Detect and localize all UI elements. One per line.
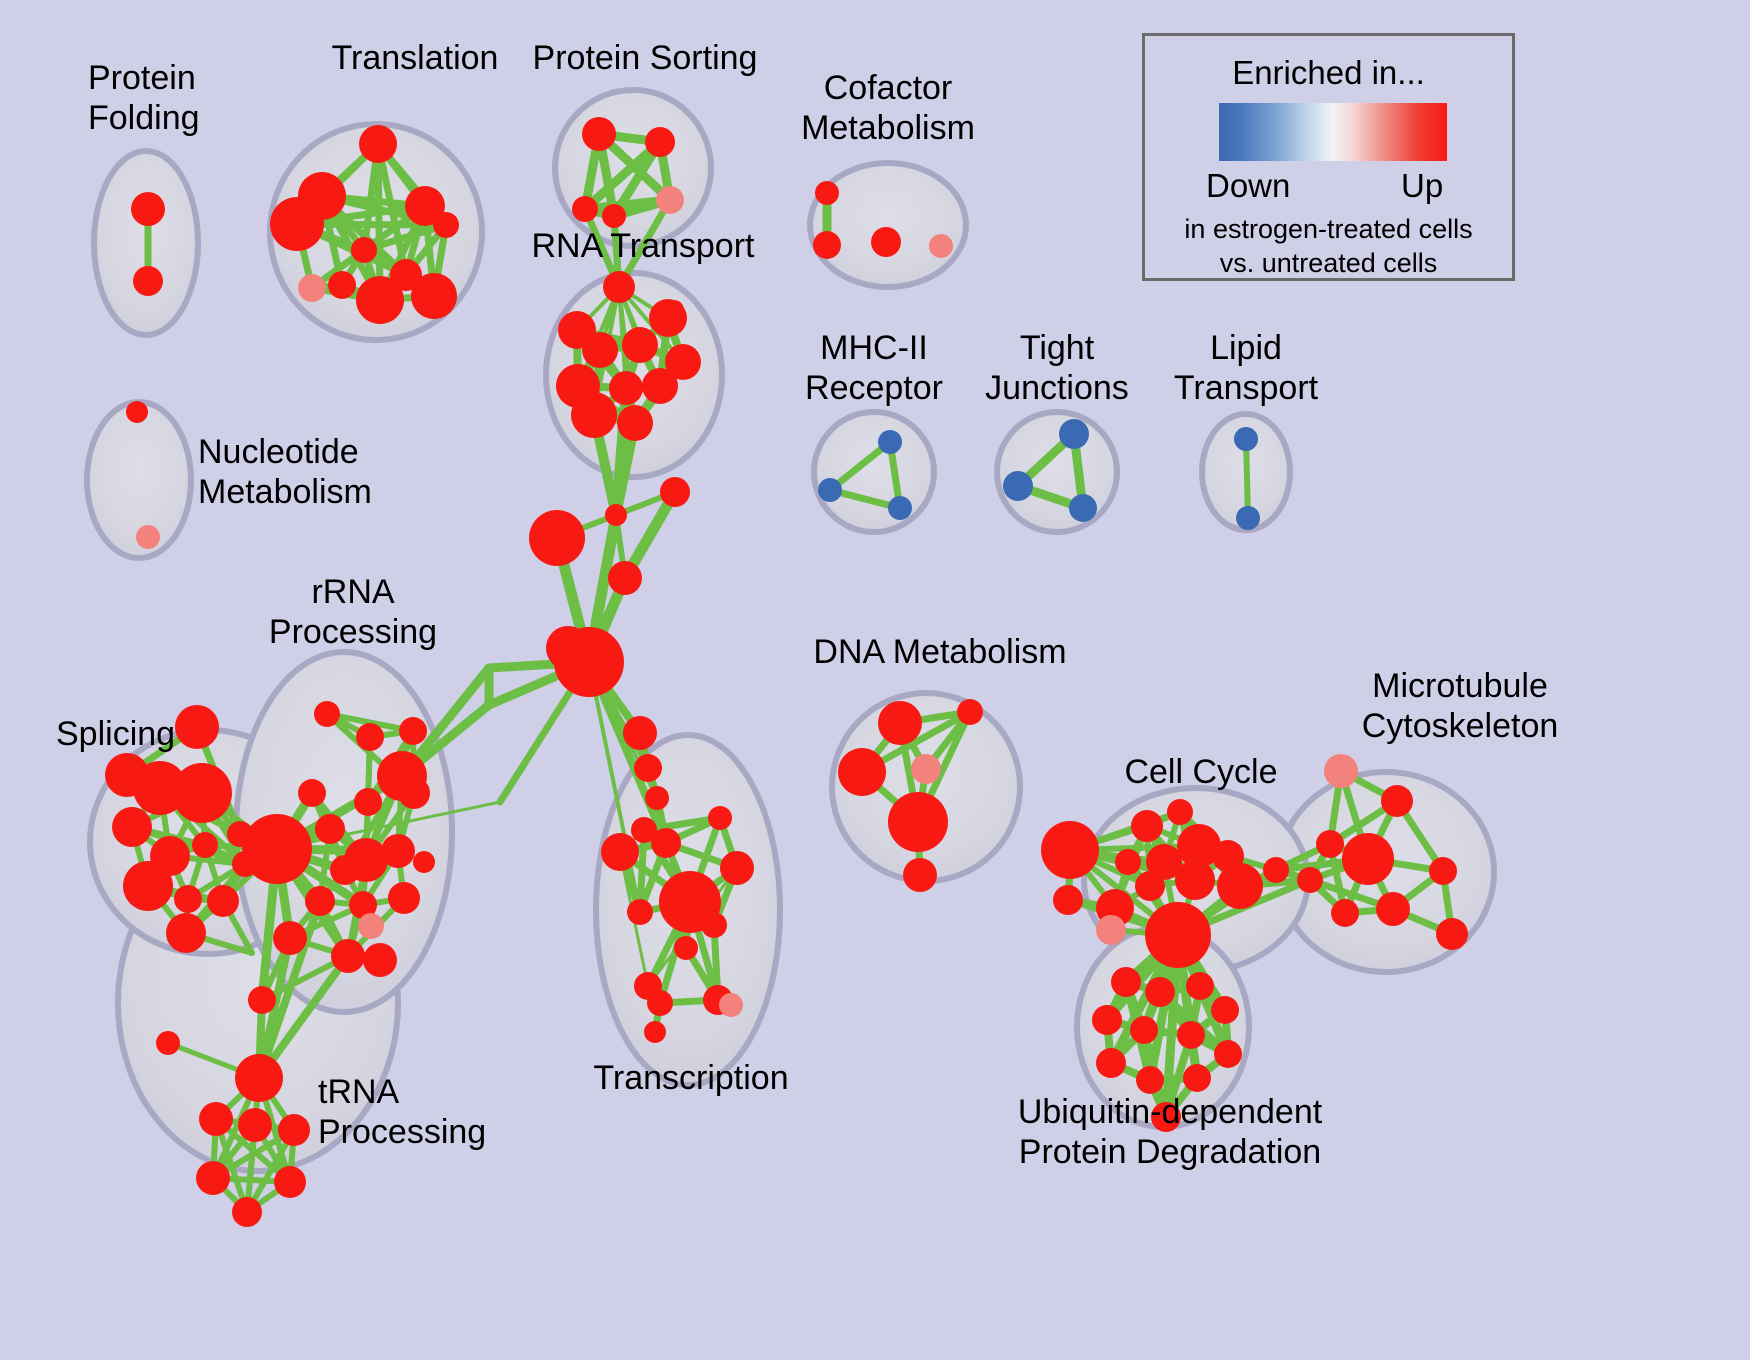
legend-color-gradient-bar [1219,103,1447,161]
node-up [232,1197,262,1227]
node-up [363,943,397,977]
node-up [411,273,457,319]
node-up-weak [656,186,684,214]
node-up [273,921,307,955]
legend-subtitle-line2: vs. untreated cells [1145,248,1512,279]
node-up [1381,785,1413,817]
node-up [298,779,326,807]
node-up [838,748,886,796]
node-up [356,276,404,324]
node-up [605,504,627,526]
node-up [642,368,678,404]
node-up [172,763,232,823]
node-up [278,1114,310,1146]
cluster-label-nucleotide-metabolism: Nucleotide Metabolism [198,432,448,512]
node-up [701,912,727,938]
node-up [1342,833,1394,885]
node-up [1429,857,1457,885]
node-up [644,1021,666,1043]
node-up-weak [1324,754,1358,788]
node-up [546,626,590,670]
node-up [196,1161,230,1195]
node-up-weak [136,525,160,549]
node-up-weak [929,234,953,258]
node-up-weak [358,913,384,939]
node-up [238,1108,272,1142]
node-up [623,716,657,750]
node-up [1217,863,1263,909]
node-up [1211,996,1239,1024]
node-up [1436,918,1468,950]
node-up [903,858,937,892]
node-up [720,851,754,885]
node-down [1003,471,1033,501]
node-up [1263,857,1289,883]
node-up [813,231,841,259]
node-up [1136,1066,1164,1094]
node-up [381,834,415,868]
node-up [1131,810,1163,842]
node-up [871,227,901,257]
node-up [1041,821,1099,879]
node-up [1183,1064,1211,1092]
node-up [314,701,340,727]
node-down [878,430,902,454]
node-up [1376,892,1410,926]
node-up [388,882,420,914]
cluster-label-trna-processing: tRNA Processing [318,1072,548,1152]
node-up [1111,967,1141,997]
node-up [1331,899,1359,927]
legend-down-label: Down [1206,167,1290,205]
node-up [617,405,653,441]
node-up [571,392,617,438]
node-up [248,986,276,1014]
node-up [192,832,218,858]
node-up [708,806,732,830]
node-down [1234,427,1258,451]
node-up [274,1166,306,1198]
node-up [582,117,616,151]
node-up [602,204,626,228]
node-up [330,855,360,885]
node-up [1297,867,1323,893]
node-up [647,990,673,1016]
cluster-label-ubiquitin-degradation: Ubiquitin-dependent Protein Degradation [970,1092,1370,1172]
node-up [123,861,173,911]
node-down [888,496,912,520]
cluster-halo-cofactor [810,163,966,287]
cluster-label-cell-cycle: Cell Cycle [1086,752,1316,792]
node-down [818,478,842,502]
node-up [645,786,669,810]
cluster-label-protein-folding: Protein Folding [88,58,288,138]
node-up [1186,972,1214,1000]
node-up [156,1031,180,1055]
cluster-label-rna-transport: RNA Transport [498,226,788,266]
node-up [270,197,324,251]
cluster-label-tight-junctions: Tight Junctions [947,328,1167,408]
node-up [1145,977,1175,1007]
node-up [622,327,658,363]
node-up [1053,885,1083,915]
node-up [356,723,384,751]
cluster-label-dna-metabolism: DNA Metabolism [790,632,1090,672]
node-up [131,192,165,226]
node-up [608,561,642,595]
node-up [1177,1021,1205,1049]
node-up [413,851,435,873]
node-up [359,125,397,163]
node-up [1135,871,1165,901]
node-up-weak [911,754,941,784]
node-up-weak [1096,915,1126,945]
enrichment-map-figure: Protein Folding Translation Protein Sort… [0,0,1750,1360]
legend-subtitle-line1: in estrogen-treated cells [1145,214,1512,245]
legend-up-label: Up [1401,167,1443,205]
node-up [315,814,345,844]
node-down [1236,506,1260,530]
cluster-label-cofactor-metabolism: Cofactor Metabolism [768,68,1008,148]
node-up-weak [298,274,326,302]
node-up [174,885,202,913]
node-up [888,792,948,852]
cluster-label-splicing: Splicing [56,714,246,754]
node-up [674,936,698,960]
node-up [133,266,163,296]
node-up [1092,1005,1122,1035]
node-up [529,510,585,566]
cluster-label-lipid-transport: Lipid Transport [1136,328,1356,408]
node-up [603,271,635,303]
cluster-label-protein-sorting: Protein Sorting [500,38,790,78]
node-up [627,899,653,925]
legend-panel: Enriched in... Down Up in estrogen-treat… [1142,33,1515,281]
node-up-weak [719,993,743,1017]
node-up [433,212,459,238]
node-up [609,371,643,405]
node-up [1130,1016,1158,1044]
node-up [645,127,675,157]
cluster-label-microtubule-cytoskeleton: Microtubule Cytoskeleton [1300,666,1620,746]
node-up [126,401,148,423]
node-up-hub [242,814,312,884]
node-up [1316,830,1344,858]
legend-title: Enriched in... [1145,54,1512,92]
node-up [398,777,430,809]
node-up [235,1054,283,1102]
node-up [399,717,427,745]
node-up [351,237,377,263]
node-down [1069,494,1097,522]
node-down [1059,419,1089,449]
node-up [957,699,983,725]
node-up [166,913,206,953]
node-up [1115,849,1141,875]
node-up [207,885,239,917]
cluster-label-transcription: Transcription [556,1058,826,1098]
node-up [634,754,662,782]
node-up [582,332,618,368]
node-up [331,939,365,973]
node-up [631,817,657,843]
node-up [354,788,382,816]
node-up [1167,799,1193,825]
node-up [1214,1040,1242,1068]
node-up [199,1102,233,1136]
node-up [572,196,598,222]
node-up [1175,860,1215,900]
cluster-label-rrna-processing: rRNA Processing [238,572,468,652]
node-up [815,181,839,205]
node-up [328,271,356,299]
node-up [1096,1048,1126,1078]
node-up [878,701,922,745]
node-up [601,833,639,871]
node-up [664,300,684,320]
cluster-halo-mhc-ii [814,412,934,532]
node-up [112,807,152,847]
node-up-hub [1145,902,1211,968]
node-up [305,886,335,916]
node-up [660,477,690,507]
